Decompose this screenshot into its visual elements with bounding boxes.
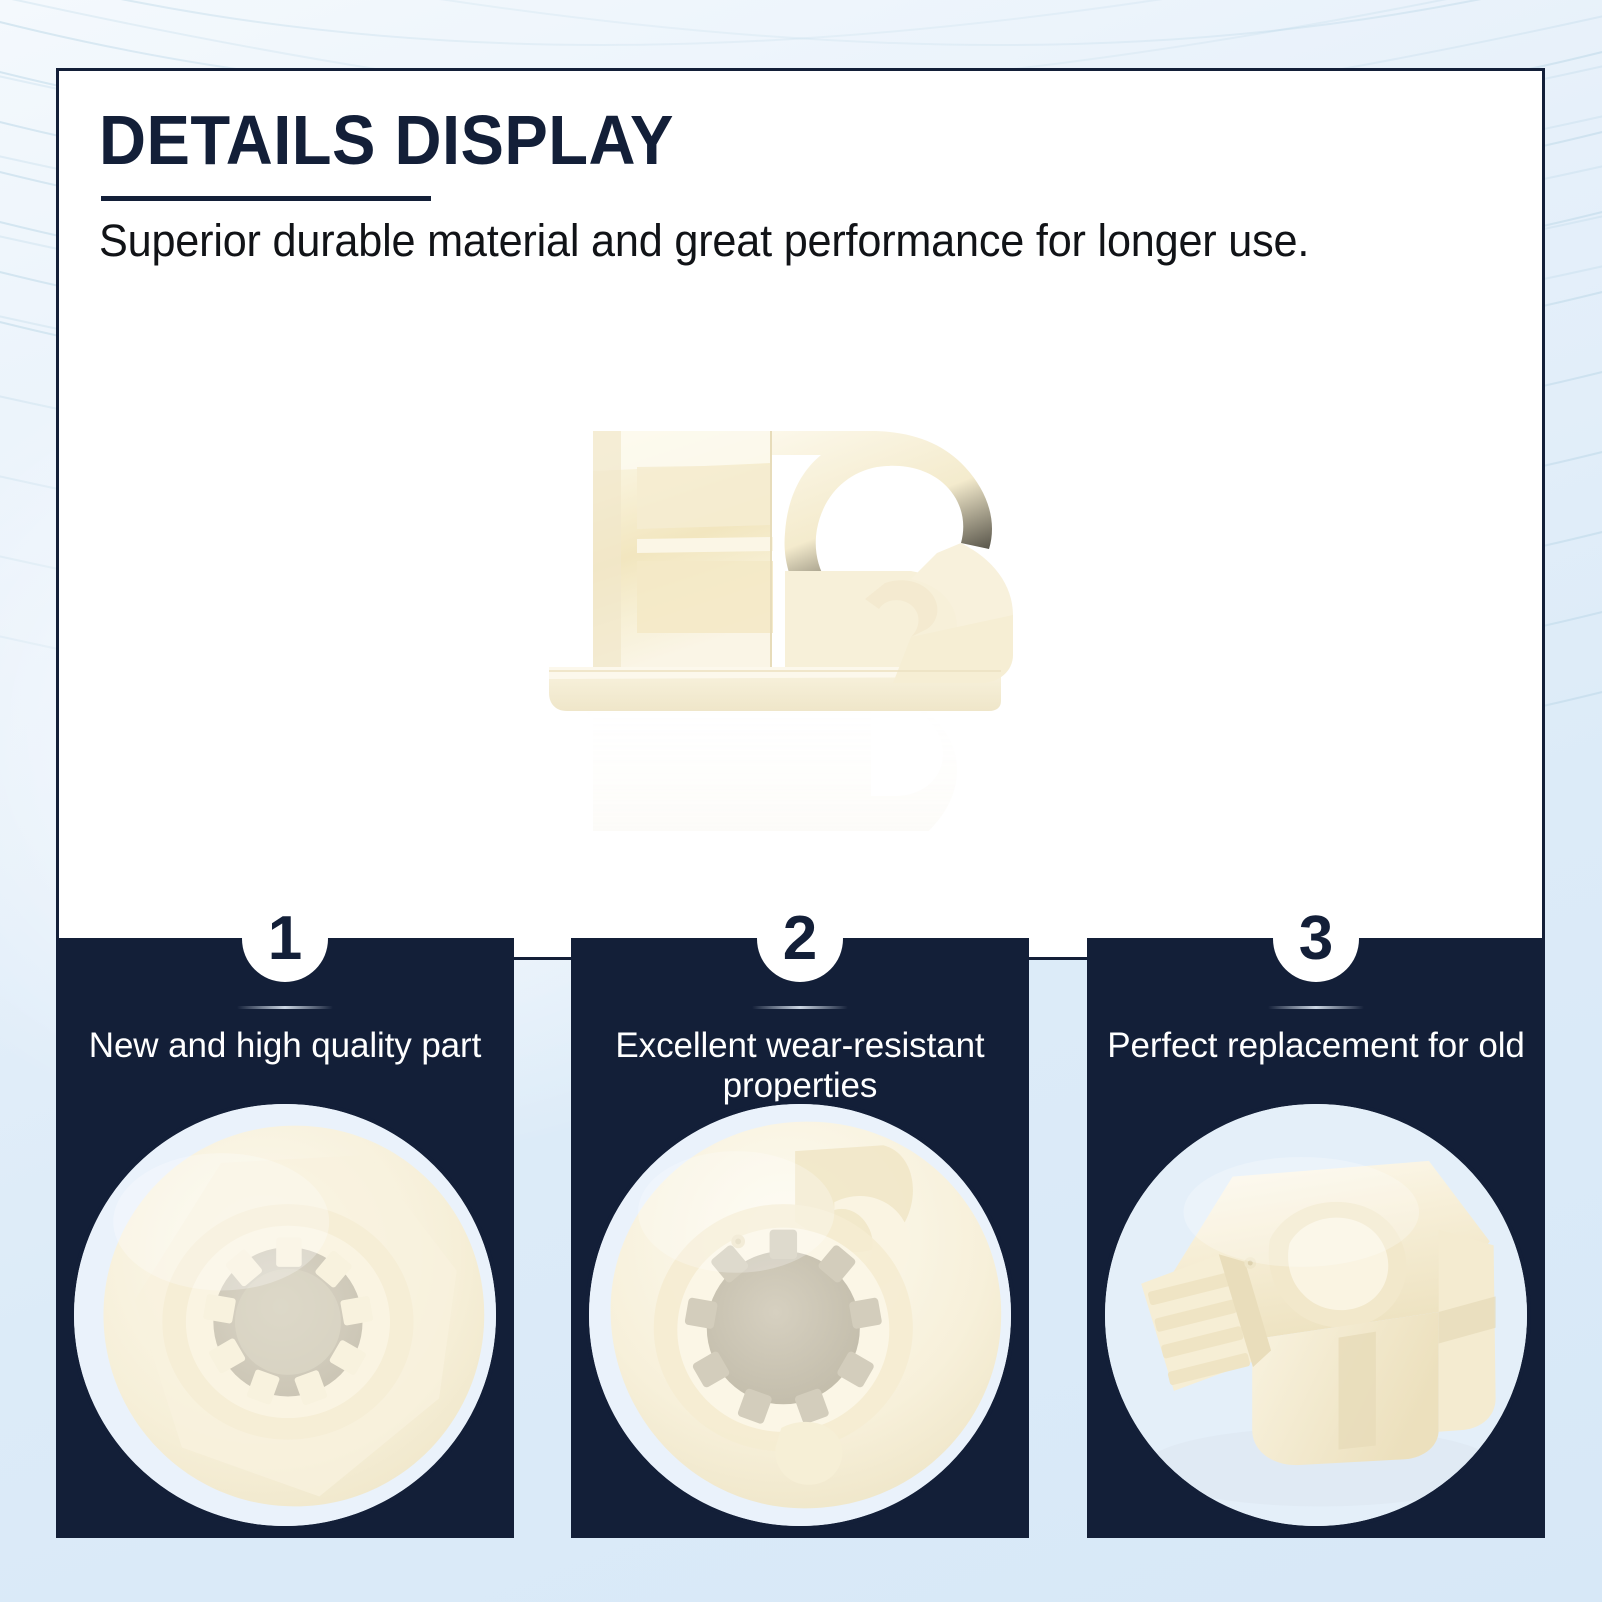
feature-panel-3: 3 Perfect replacement for old (1087, 938, 1545, 1538)
feature-image-3 (1101, 1100, 1531, 1530)
title-underline (101, 196, 431, 201)
details-card: DETAILS DISPLAY Superior durable materia… (56, 68, 1545, 960)
product-detail-page: DETAILS DISPLAY Superior durable materia… (0, 0, 1602, 1602)
feature-image-2 (585, 1100, 1015, 1530)
feature-label-1: New and high quality part (64, 1026, 506, 1066)
feature-panels: 1 New and high quality part (56, 938, 1545, 1538)
feature-panel-1: 1 New and high quality part (56, 938, 514, 1538)
badge-divider-2 (752, 1006, 848, 1009)
hero-product-image (59, 371, 1542, 931)
badge-divider-1 (237, 1006, 333, 1009)
feature-badge-2: 2 (757, 896, 843, 982)
feature-label-3: Perfect replacement for old (1095, 1026, 1537, 1066)
feature-image-1 (70, 1100, 500, 1530)
badge-divider-3 (1268, 1006, 1364, 1009)
feature-label-2: Excellent wear-resistant properties (579, 1026, 1021, 1105)
feature-badge-3: 3 (1273, 896, 1359, 982)
page-title: DETAILS DISPLAY (99, 105, 1441, 176)
card-header: DETAILS DISPLAY Superior durable materia… (59, 71, 1542, 267)
page-subtitle: Superior durable material and great perf… (99, 215, 1484, 267)
feature-badge-1: 1 (242, 896, 328, 982)
feature-panel-2: 2 Excellent wear-resistant properties (571, 938, 1029, 1538)
